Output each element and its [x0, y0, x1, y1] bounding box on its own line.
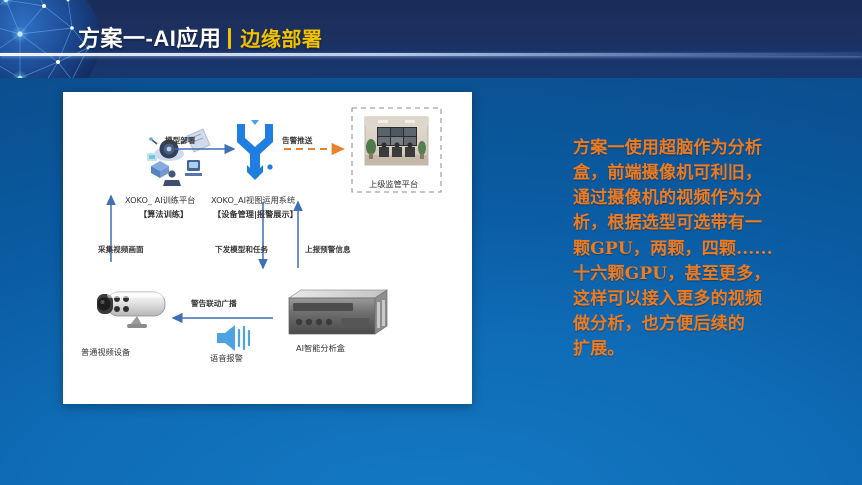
title-sub-text: 边缘部署	[240, 29, 322, 51]
page-title: 方案一-AI应用边缘部署	[78, 21, 322, 53]
description-text: 方案一使用超脑作为分析 盒，前端摄像机可利旧， 通过摄像机的视频作为分 析，根据…	[573, 136, 841, 362]
title-divider-bar	[228, 28, 231, 49]
description-line: 十六颗GPU，甚至更多，	[573, 262, 841, 287]
description-line: 颗GPU，两颗，四颗......	[573, 237, 841, 262]
diagram-panel: 模型部署 告警推送 采集视频画面 下发模型和任务 上报预警信息 警告联动广播 X…	[63, 92, 472, 404]
description-line: 扩展。	[573, 337, 841, 362]
slide-root: 方案一-AI应用边缘部署	[0, 0, 862, 485]
node-label-view-system: XOKO_AI视图运用系统	[211, 196, 295, 205]
header-divider-line	[0, 53, 862, 56]
node-sublabel-view-system: 【设备管理|报警展示】	[213, 210, 298, 219]
description-line: 这样可以接入更多的视频	[573, 287, 841, 312]
description-line: 析，根据选型可选带有一	[573, 211, 841, 236]
arrow-label-capture-video: 采集视频画面	[98, 246, 144, 255]
node-label-analysis-box: AI智能分析盒	[296, 344, 345, 353]
node-label-camera: 普通视频设备	[81, 348, 130, 357]
title-main-text: 方案一-AI应用	[78, 26, 221, 51]
node-label-supervision-platform: 上级监管平台	[369, 180, 418, 189]
arrow-label-model-deploy: 模型部署	[165, 137, 195, 146]
description-line: 方案一使用超脑作为分析	[573, 136, 841, 161]
node-label-speaker: 语音报警	[210, 354, 243, 363]
slide-header: 方案一-AI应用边缘部署	[0, 0, 862, 78]
node-label-training-platform: XOKO_ AI训练平台	[125, 196, 195, 205]
arrow-label-alarm-push: 告警推送	[282, 137, 312, 146]
description-line: 做分析，也方便后续的	[573, 312, 841, 337]
description-line: 通过摄像机的视频作为分	[573, 186, 841, 211]
description-line: 盒，前端摄像机可利旧，	[573, 161, 841, 186]
arrow-label-deliver-model-task: 下发模型和任务	[215, 246, 268, 255]
arrow-label-alarm-broadcast: 警告联动广播	[191, 300, 237, 309]
node-sublabel-training-platform: 【算法训练】	[139, 210, 188, 219]
arrow-label-report-warning: 上报预警信息	[305, 246, 351, 255]
